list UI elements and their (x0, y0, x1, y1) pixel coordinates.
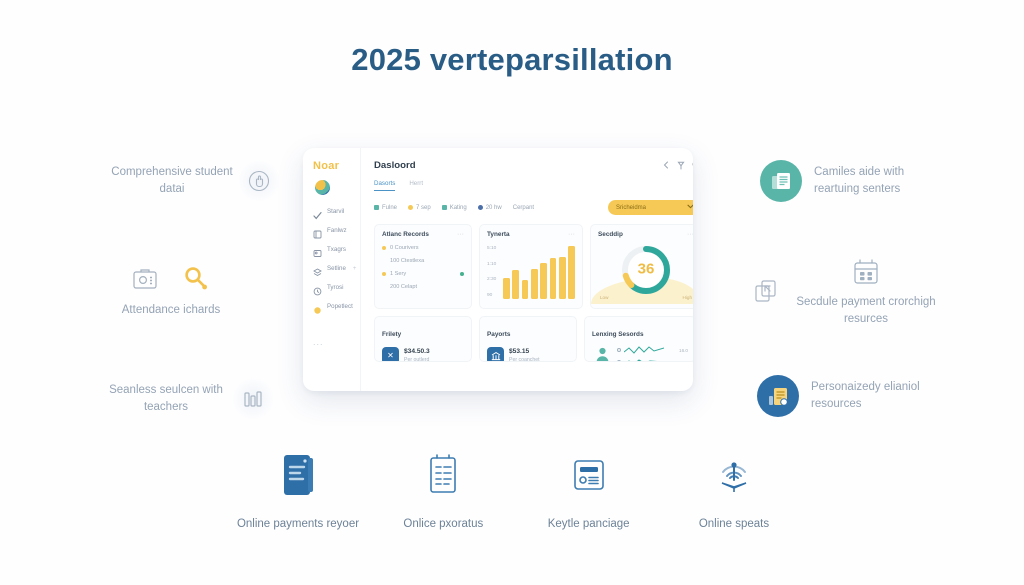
card-bar-chart: Tynerta ··· 5:10 1:10 2:30 90 (479, 224, 583, 309)
dashboard-header: Dasloord (374, 160, 693, 171)
list-item-label: 0 Courivers (390, 245, 419, 251)
chip-label: 7 sep (416, 205, 431, 211)
kpi-subtitle: Per coanchet (509, 357, 540, 362)
bullet-icon (617, 348, 621, 352)
sparkline-value: 10.0 (679, 360, 688, 363)
feature-right-2-label: Secdule payment crorchigh resurces (796, 294, 936, 327)
sidebar-item-setline[interactable]: Setline + (313, 264, 360, 273)
card-gauge: Secddip ··· 36 Low High (590, 224, 693, 309)
bottom-card-row: Frilety ✕ $34.50.3 Per outlerd Payorts (374, 316, 693, 362)
feature-left-3: Seanless seulcen with teachers (100, 378, 274, 420)
card-title: Lenxing Sesords (592, 331, 644, 338)
sparkline-row: 10.0 (617, 358, 688, 362)
chip-20hw[interactable]: 20 hw (478, 205, 502, 211)
dashboard-title: Dasloord (374, 160, 416, 171)
document-stack-icon (760, 160, 802, 202)
list-item-label: 100 Ctestlexa (390, 258, 424, 264)
book-icon (313, 226, 322, 235)
bar-5 (540, 263, 547, 299)
share-icon[interactable] (662, 161, 670, 169)
card-lenxing-records: Lenxing Sesords Tyrst sitex (584, 316, 693, 362)
dot-icon (313, 302, 322, 311)
card-title: Payorts (487, 331, 510, 338)
filter-pin-icon[interactable] (677, 161, 685, 170)
chip-dot-icon (442, 205, 447, 210)
chip-dot-icon (374, 205, 379, 210)
bar-chart: 5:10 1:10 2:30 90 (487, 244, 575, 306)
y-tick-label: 1:10 (487, 262, 503, 267)
chip-dot-icon (478, 205, 483, 210)
chip-label: Fulne (382, 205, 397, 211)
card-frilety: Frilety ✕ $34.50.3 Per outlerd (374, 316, 472, 362)
bar-4 (531, 269, 538, 299)
top-card-row: Atlanc Records ··· 0 Courivers 100 Ctest… (374, 224, 693, 309)
sidebar-item-label: Popetlect (327, 303, 353, 310)
sidebar-item-label: Setline (327, 265, 346, 272)
feature-left-2-label: Attendance ichards (96, 302, 246, 319)
gauge-value: 36 (638, 261, 655, 278)
bullet-icon (382, 246, 386, 250)
card-title: Tynerta (487, 231, 510, 238)
list-item: 1 Sery (382, 271, 464, 277)
bullet-icon (382, 285, 386, 289)
sparkline-icon (624, 358, 664, 362)
chip-cerpant[interactable]: Cerpant (513, 205, 534, 211)
bottom-feature-row: Online payments reyoer Onlice pxoratus (230, 448, 802, 533)
dropdown-value: Sricheidma (616, 205, 646, 211)
feature-bottom-4: Online speats (666, 448, 802, 533)
avatar-icon (594, 346, 611, 362)
card-attendance-records: Atlanc Records ··· 0 Courivers 100 Ctest… (374, 224, 472, 309)
bank-icon (487, 347, 504, 362)
feature-bottom-4-label: Online speats (699, 516, 769, 533)
feature-right-2: Secdule payment crorchigh resurces (752, 256, 936, 327)
bar-7 (559, 257, 566, 299)
search-icon[interactable] (692, 160, 693, 170)
feature-bottom-2: Onlice pxoratus (375, 448, 511, 533)
chip-kating[interactable]: Kating (442, 205, 467, 211)
sparkline-list: 16.0 10.0 (617, 346, 688, 362)
y-tick-label: 5:10 (487, 246, 503, 251)
sidebar-item-starvil[interactable]: Starvil (313, 207, 360, 216)
sidebar-item-label: Txagrs (327, 246, 346, 253)
dashboard-main: Dasloord Dasorts Herrt (361, 148, 693, 391)
gauge-tick-high: High (683, 295, 692, 300)
list-item: 0 Courivers (382, 245, 464, 251)
sparkline-icon (624, 346, 664, 354)
chip-label: Cerpant (513, 205, 534, 211)
kpi-value: $34.50.3 (404, 348, 430, 355)
magnifier-key-icon (179, 262, 213, 296)
feature-bottom-3: Keytle panciage (521, 448, 657, 533)
chip-7sep[interactable]: 7 sep (408, 205, 431, 211)
clipboard-camera-icon (129, 263, 161, 295)
tab-dasorts[interactable]: Dasorts (374, 180, 395, 191)
gauge-chart: 36 Low High (598, 240, 693, 304)
x-badge-icon: ✕ (382, 347, 399, 362)
hand-touch-icon (238, 160, 280, 202)
gauge-tick-low: Low (600, 295, 608, 300)
feature-right-1: Camiles aide with reartuing senters (760, 160, 946, 202)
check-icon (313, 207, 322, 216)
bar-3 (522, 280, 529, 299)
list-item: 100 Ctestlexa (382, 258, 464, 264)
image-icon (313, 245, 322, 254)
feature-bottom-3-label: Keytle panciage (548, 516, 630, 533)
kpi-subtitle: Per outlerd (404, 357, 430, 362)
card-title: Secddip (598, 231, 623, 238)
card-title: Frilety (382, 331, 401, 338)
feature-right-3-label: Personaizedy elianiol resources (811, 379, 943, 412)
dashboard-sidebar: Noar Starvil Fanlwz Txagrs (303, 148, 361, 391)
calendar-grid-icon (850, 256, 882, 288)
sparkline-value: 16.0 (679, 348, 688, 353)
header-icon-group (662, 160, 693, 170)
page-title: 2025 verteparsillation (0, 42, 1024, 78)
clock-icon (313, 283, 322, 292)
chevron-down-icon (687, 204, 693, 211)
card-payorts: Payorts $53.15 Per coanchet (479, 316, 577, 362)
list-item-label: 200 Celapt (390, 284, 417, 290)
feature-right-3: Personaizedy elianiol resources (757, 375, 943, 417)
chip-fulne[interactable]: Fulne (374, 205, 397, 211)
bar-8 (568, 246, 575, 299)
layers-icon (313, 264, 322, 273)
feature-left-2: Attendance ichards (96, 262, 246, 319)
chip-label: 20 hw (486, 205, 502, 211)
clipboard-list-icon (419, 448, 467, 504)
list-item: 200 Celapt (382, 284, 464, 290)
document-share-icon (752, 276, 784, 308)
infographic-canvas: 2025 verteparsillation Comprehensive stu… (0, 0, 1024, 585)
bar-1 (503, 278, 510, 299)
bullet-icon (617, 360, 621, 362)
feature-bottom-1-label: Online payments reyoer (237, 516, 359, 533)
payment-book-icon (274, 448, 322, 504)
expand-icon[interactable]: + (353, 266, 357, 272)
bar-2 (512, 270, 519, 299)
tab-herrt[interactable]: Herrt (409, 180, 423, 191)
bullet-icon (382, 259, 386, 263)
bar-group-icon (232, 378, 274, 420)
sidebar-item-label: Starvil (327, 208, 344, 215)
report-chart-icon (757, 375, 799, 417)
sidebar-item-popetlect[interactable]: Popetlect (313, 302, 360, 311)
feature-bottom-2-label: Onlice pxoratus (403, 516, 483, 533)
feature-left-1-label: Comprehensive student datai (106, 164, 238, 197)
dashboard-tabs: Dasorts Herrt (374, 180, 693, 191)
avatar (315, 180, 330, 195)
dropdown-select[interactable]: Sricheidma (608, 200, 693, 215)
feature-right-1-label: Camiles aide with reartuing senters (814, 164, 946, 197)
feature-left-1: Comprehensive student datai (106, 160, 280, 202)
list-item-label: 1 Sery (390, 271, 406, 277)
kpi-value: $53.15 (509, 348, 540, 355)
sidebar-item-tyrosi[interactable]: Tyrosi (313, 283, 360, 292)
bar-6 (550, 258, 557, 299)
chart-y-axis: 5:10 1:10 2:30 90 (487, 244, 503, 306)
dashboard-mockup: Noar Starvil Fanlwz Txagrs (303, 148, 693, 391)
chip-label: Kating (450, 205, 467, 211)
broadcast-book-icon (708, 448, 760, 504)
app-logo: Noar (313, 160, 360, 172)
chart-bars (503, 244, 575, 306)
sparkline-row: 16.0 (617, 346, 688, 354)
sidebar-item-fanlwz[interactable]: Fanlwz (313, 226, 360, 235)
feature-bottom-1: Online payments reyoer (230, 448, 366, 533)
bullet-icon (382, 272, 386, 276)
feature-left-3-label: Seanless seulcen with teachers (100, 382, 232, 415)
sidebar-item-txagrs[interactable]: Txagrs (313, 245, 360, 254)
card-title: Atlanc Records (382, 231, 429, 238)
filter-chip-row: Fulne 7 sep Kating 20 hw Cerpant (374, 200, 693, 215)
status-badge (460, 272, 464, 276)
chip-dot-icon (408, 205, 413, 210)
sidebar-item-label: Tyrosi (327, 284, 344, 291)
sidebar-item-label: Fanlwz (327, 227, 347, 234)
card-reader-icon (565, 448, 613, 504)
y-tick-label: 90 (487, 293, 503, 298)
y-tick-label: 2:30 (487, 277, 503, 282)
sidebar-more[interactable]: ... (313, 337, 360, 347)
